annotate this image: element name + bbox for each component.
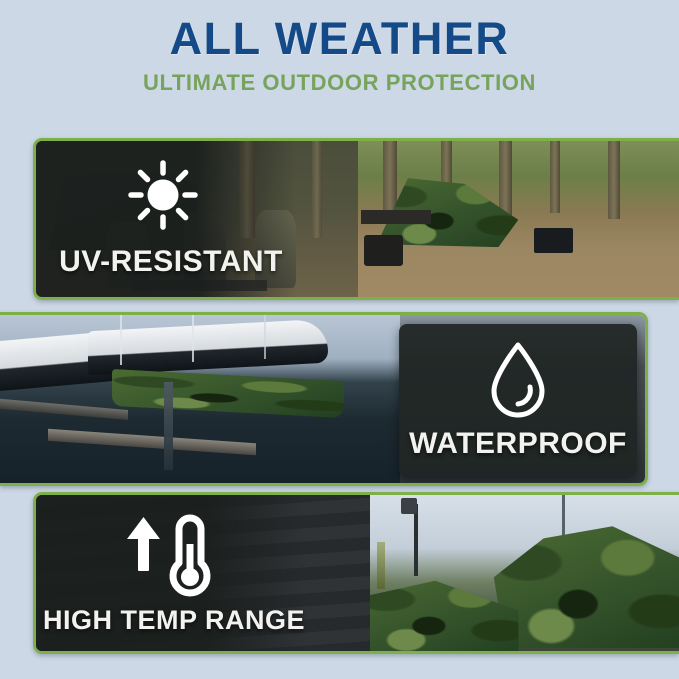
lamp-post (414, 504, 418, 576)
dock-plank (48, 429, 256, 455)
camo-tarp-boat-cover (112, 369, 344, 418)
feature-label-uv-resistant: UV-RESISTANT (59, 245, 283, 279)
photo-forest-campsite (358, 141, 679, 297)
photo-marina (0, 315, 400, 483)
high-temp-range-caption-overlay: HIGH TEMP RANGE (36, 495, 306, 651)
dock-piling (164, 382, 173, 469)
feature-label-high-temp-range: HIGH TEMP RANGE (43, 605, 305, 636)
tree-trunk (499, 141, 512, 219)
water-drop-icon (485, 339, 551, 421)
tree-trunk (550, 141, 560, 213)
boat-shape (88, 319, 328, 375)
tree-trunk (608, 141, 620, 219)
equipment-case-shape (534, 228, 573, 253)
page-subtitle: ULTIMATE OUTDOOR PROTECTION (0, 72, 679, 94)
header: ALL WEATHER ULTIMATE OUTDOOR PROTECTION (0, 0, 679, 94)
boat-mast (120, 315, 122, 365)
feature-panel-high-temp-range: HIGH TEMP RANGE (33, 492, 679, 654)
shrub-shape (377, 542, 385, 589)
boat-mast (192, 315, 194, 362)
feature-label-waterproof: WATERPROOF (409, 427, 627, 461)
tree-trunk (312, 141, 322, 238)
waterproof-caption-overlay: WATERPROOF (399, 324, 637, 476)
camp-table-shape (361, 210, 432, 224)
dock-plank (0, 398, 128, 420)
page-title: ALL WEATHER (0, 16, 679, 62)
thermometer-up-arrow-icon (115, 511, 227, 597)
uv-resistant-caption-overlay: UV-RESISTANT (36, 141, 296, 297)
boat-mast (264, 315, 266, 359)
feature-panel-waterproof: WATERPROOF (0, 312, 648, 486)
photo-backyard (370, 495, 679, 651)
camo-tarp-covered-stack (494, 526, 679, 648)
feature-panel-uv-resistant: UV-RESISTANT (33, 138, 679, 300)
sun-icon (127, 159, 199, 231)
lamp-head (401, 498, 417, 514)
camp-chair-shape (364, 235, 403, 266)
